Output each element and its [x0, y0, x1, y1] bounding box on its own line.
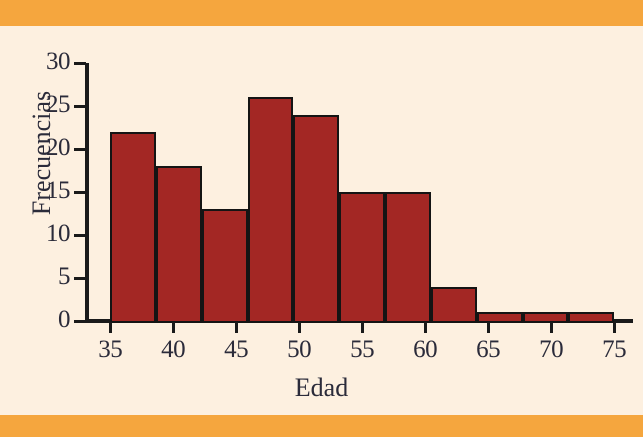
x-axis-tick-label: 75: [584, 336, 643, 364]
y-axis-tick: [74, 148, 86, 151]
y-axis-tick: [74, 105, 86, 108]
y-axis-title: Frecuencias: [27, 33, 57, 273]
x-axis-tick: [172, 322, 175, 333]
x-axis-tick-label: 45: [206, 336, 266, 364]
x-axis-tick: [109, 322, 112, 333]
x-axis-tick-label: 40: [143, 336, 203, 364]
x-axis-tick: [235, 322, 238, 333]
x-axis-tick: [361, 322, 364, 333]
x-axis-tick-label: 35: [80, 336, 140, 364]
x-axis-tick: [613, 322, 616, 333]
x-axis-tick-label: 55: [332, 336, 392, 364]
x-axis-tick-label: 50: [269, 336, 329, 364]
y-axis-tick: [74, 234, 86, 237]
x-axis-tick: [298, 322, 301, 333]
x-axis-tick-label: 60: [395, 336, 455, 364]
y-axis-tick-label: 0: [30, 307, 70, 332]
histogram-bar: [110, 132, 156, 323]
histogram-bar: [202, 209, 248, 323]
x-axis-tick-label: 70: [521, 336, 581, 364]
histogram-bar: [248, 97, 294, 323]
histogram-bar: [431, 287, 477, 323]
figure-canvas: 051015202530 354045505560657075 Frecuenc…: [0, 0, 643, 437]
x-axis-tick-label: 65: [458, 336, 518, 364]
x-axis-tick: [487, 322, 490, 333]
histogram-bar: [477, 312, 523, 323]
top-decorative-band: [0, 0, 643, 26]
x-axis-title: Edad: [0, 373, 643, 403]
histogram-bar: [293, 115, 339, 323]
y-axis-tick: [74, 320, 86, 323]
histogram-bar: [385, 192, 431, 323]
y-axis-tick: [74, 62, 86, 65]
y-axis-tick: [74, 191, 86, 194]
histogram-bar: [523, 312, 569, 323]
bottom-decorative-band: [0, 415, 643, 437]
histogram-plot: 051015202530 354045505560657075 Frecuenc…: [0, 26, 643, 415]
histogram-bar: [568, 312, 614, 323]
histogram-bar: [156, 166, 202, 323]
histogram-bar: [339, 192, 385, 323]
x-axis-tick: [550, 322, 553, 333]
y-axis-tick: [74, 277, 86, 280]
x-axis-tick: [424, 322, 427, 333]
